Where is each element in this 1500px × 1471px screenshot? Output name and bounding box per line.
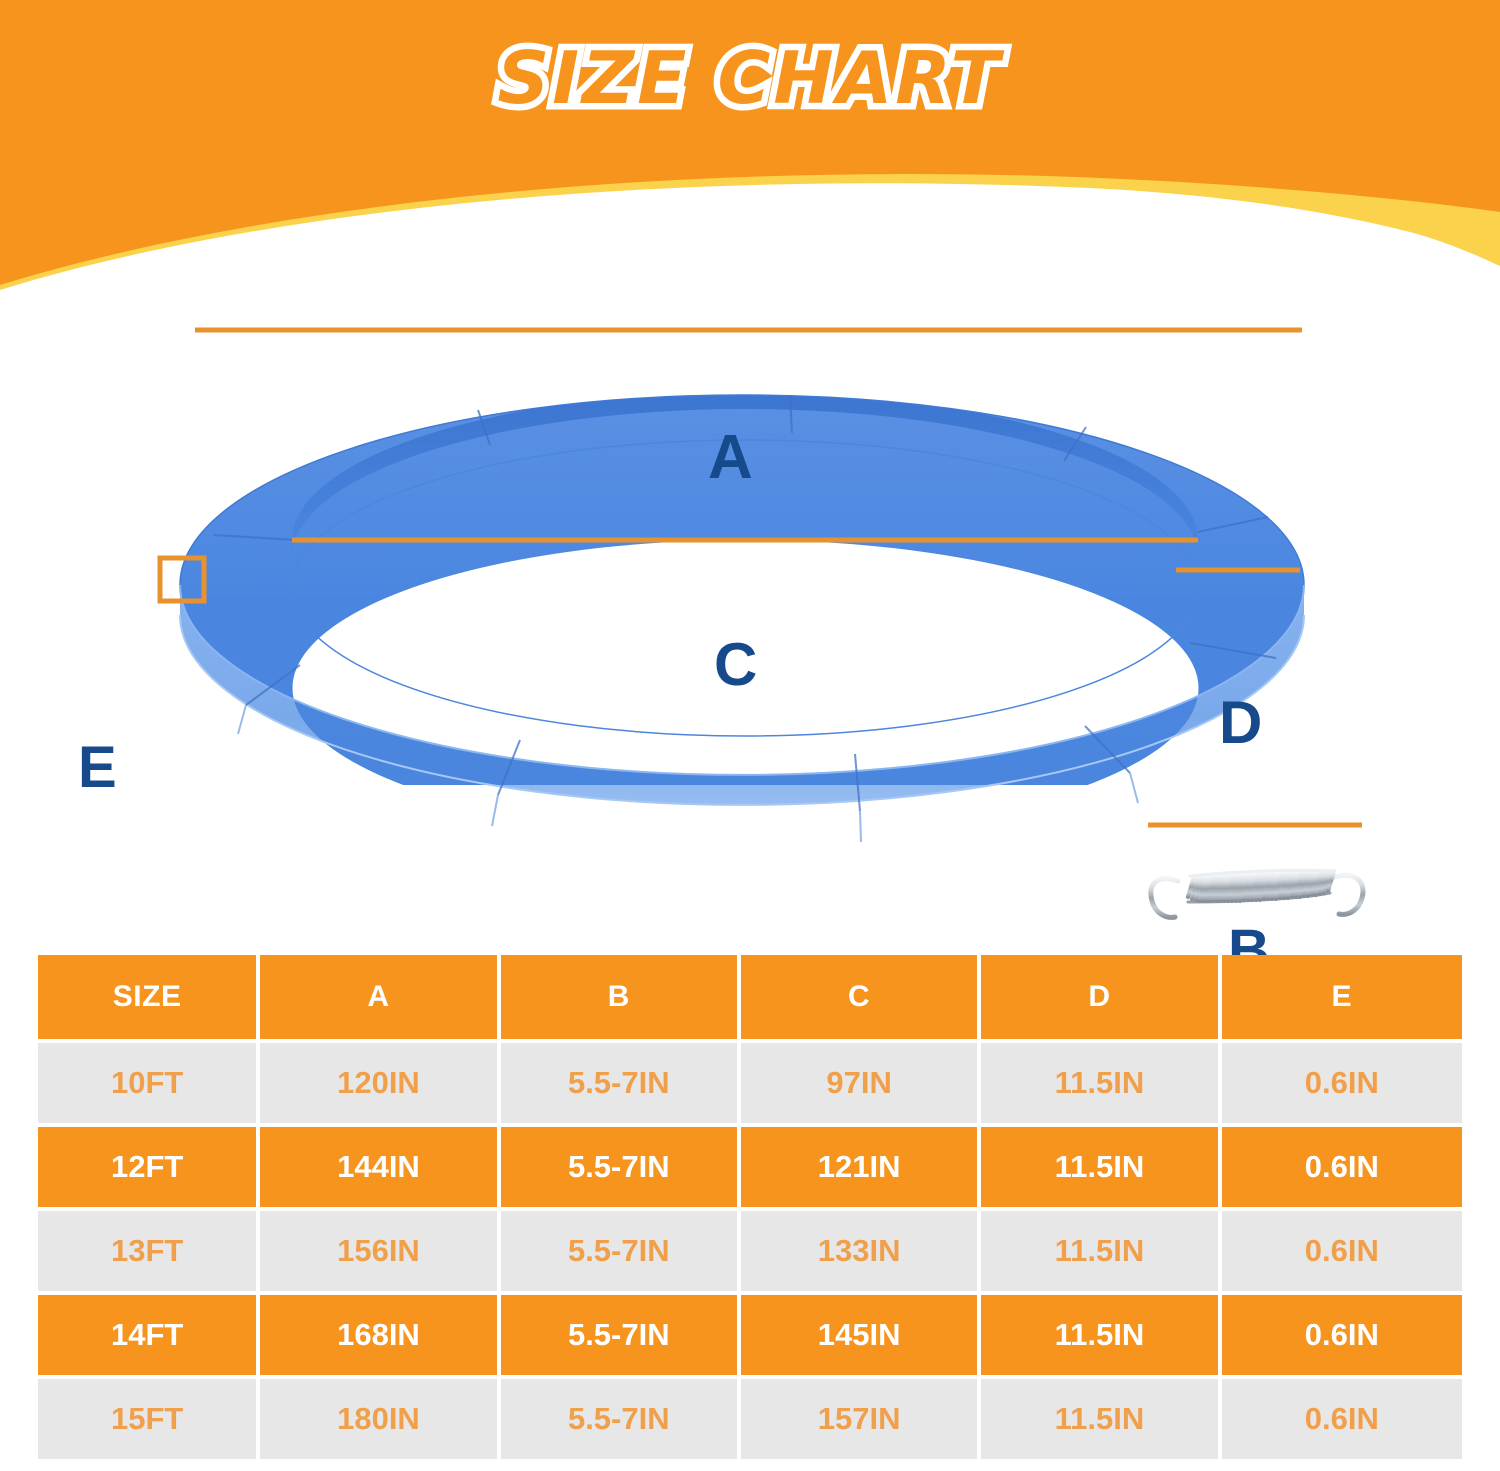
cell-d: 11.5IN (981, 1291, 1221, 1375)
column-header-b: B (501, 955, 741, 1039)
column-header-e: E (1222, 955, 1462, 1039)
cell-c: 97IN (741, 1039, 981, 1123)
size-chart-page: SIZE CHART (0, 0, 1500, 1471)
dimension-label-a: A (708, 427, 753, 489)
cell-size: 15FT (38, 1375, 260, 1459)
cell-d: 11.5IN (981, 1123, 1221, 1207)
column-header-c: C (741, 955, 981, 1039)
trampoline-safety-pad (170, 210, 1320, 842)
spring-hook-right (1334, 875, 1363, 914)
cell-a: 120IN (260, 1039, 500, 1123)
cell-a: 156IN (260, 1207, 500, 1291)
column-header-size: SIZE (38, 955, 260, 1039)
cell-size: 14FT (38, 1291, 260, 1375)
cell-b: 5.5-7IN (501, 1123, 741, 1207)
table-row: 10FT 120IN 5.5-7IN 97IN 11.5IN 0.6IN (38, 1039, 1462, 1123)
dimension-label-d: D (1219, 693, 1262, 753)
cell-d: 11.5IN (981, 1039, 1221, 1123)
cell-a: 180IN (260, 1375, 500, 1459)
cell-b: 5.5-7IN (501, 1291, 741, 1375)
cell-b: 5.5-7IN (501, 1207, 741, 1291)
pad-top-face (170, 210, 1320, 785)
cell-e: 0.6IN (1222, 1039, 1462, 1123)
column-header-a: A (260, 955, 500, 1039)
cell-b: 5.5-7IN (501, 1375, 741, 1459)
column-header-d: D (981, 955, 1221, 1039)
cell-e: 0.6IN (1222, 1123, 1462, 1207)
cell-size: 12FT (38, 1123, 260, 1207)
cell-size: 10FT (38, 1039, 260, 1123)
cell-e: 0.6IN (1222, 1375, 1462, 1459)
cell-d: 11.5IN (981, 1375, 1221, 1459)
cell-d: 11.5IN (981, 1207, 1221, 1291)
cell-c: 133IN (741, 1207, 981, 1291)
cell-a: 144IN (260, 1123, 500, 1207)
table-row: 13FT 156IN 5.5-7IN 133IN 11.5IN 0.6IN (38, 1207, 1462, 1291)
spring-hook-left (1151, 879, 1178, 918)
table-row: 14FT 168IN 5.5-7IN 145IN 11.5IN 0.6IN (38, 1291, 1462, 1375)
cell-b: 5.5-7IN (501, 1039, 741, 1123)
cell-c: 121IN (741, 1123, 981, 1207)
product-diagram: A C D E B (0, 195, 1500, 955)
size-table-container: SIZE A B C D E 10FT 120IN 5.5-7IN 97IN 1… (38, 955, 1462, 1459)
cell-size: 13FT (38, 1207, 260, 1291)
size-table: SIZE A B C D E 10FT 120IN 5.5-7IN 97IN 1… (38, 955, 1462, 1459)
cell-e: 0.6IN (1222, 1291, 1462, 1375)
dimension-label-e: E (78, 739, 117, 797)
table-row: 15FT 180IN 5.5-7IN 157IN 11.5IN 0.6IN (38, 1375, 1462, 1459)
cell-c: 157IN (741, 1375, 981, 1459)
cell-e: 0.6IN (1222, 1207, 1462, 1291)
dimension-label-c: C (714, 635, 757, 695)
cell-c: 145IN (741, 1291, 981, 1375)
page-title: SIZE CHART (0, 36, 1500, 120)
trampoline-spring (1151, 870, 1363, 917)
cell-a: 168IN (260, 1291, 500, 1375)
table-row: 12FT 144IN 5.5-7IN 121IN 11.5IN 0.6IN (38, 1123, 1462, 1207)
table-header-row: SIZE A B C D E (38, 955, 1462, 1039)
